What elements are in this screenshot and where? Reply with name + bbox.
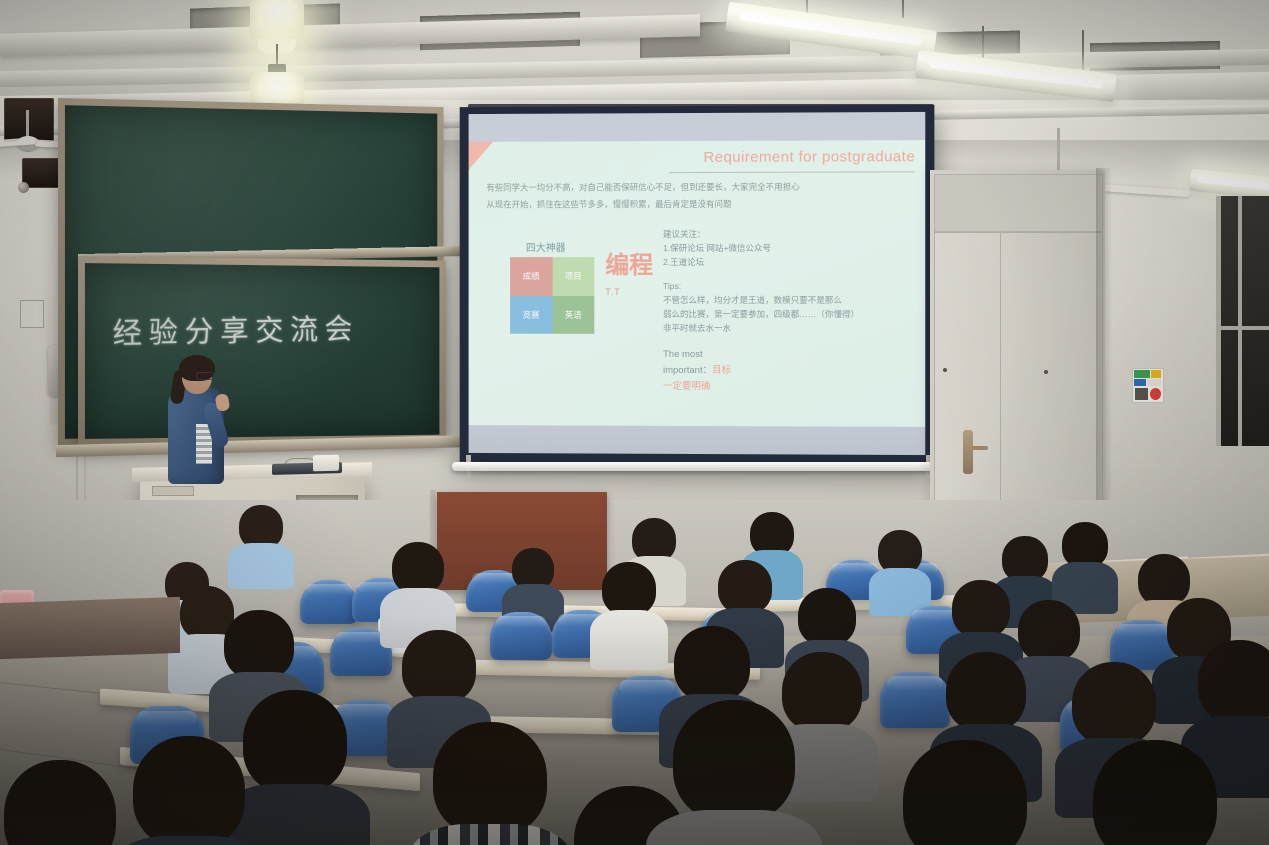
presenter-hand	[215, 393, 231, 412]
audience-member	[900, 740, 1030, 845]
wall-knob-icon	[18, 182, 29, 193]
four-quadrant-diagram: 成绩 项目 竞赛 英语	[510, 257, 594, 334]
slide-recommend-item: 1.保研论坛 网站+微信公众号	[663, 241, 914, 255]
quadrant-cell: 竞赛	[510, 295, 552, 333]
slide-recommend-item: 2.王道论坛	[663, 255, 914, 269]
ceiling-beam	[0, 14, 700, 56]
tube-stem	[1082, 30, 1084, 70]
person-torso	[590, 610, 668, 670]
audience-member	[670, 700, 798, 845]
podium-device-box[interactable]	[313, 455, 339, 472]
window-mullion	[1238, 196, 1242, 446]
slide-tips-line: 非平时就去水一水	[663, 321, 914, 335]
slide-important-prefix: important：	[663, 365, 712, 376]
audience-member	[0, 760, 120, 845]
slide-important-line: important：目标	[663, 363, 731, 379]
slide-tips-line: 弱么的比赛，第一定要参加，四级都……（你懂得）	[663, 307, 914, 321]
door-handle-icon[interactable]	[963, 430, 973, 474]
slide-most-important-block: The most important：目标 一定要明确	[663, 347, 731, 395]
blackboard-surface: 经验分享交流会	[85, 263, 439, 439]
person-head	[673, 700, 795, 822]
person-head	[903, 740, 1027, 845]
projection-screen: Requirement for postgraduate 有些同学大一均分不高，…	[460, 105, 935, 464]
slide-tips-line: 不管怎么样，均分才是王道，数模只要不是那么	[663, 293, 914, 307]
audience-member	[600, 562, 658, 658]
presenter	[160, 358, 240, 488]
slide-tips-heading: Tips:	[663, 279, 914, 293]
person-head	[133, 736, 245, 845]
person-head	[433, 722, 547, 836]
blackboard-lower: 经验分享交流会	[78, 256, 446, 446]
audience-member	[240, 690, 350, 845]
slide-big-word-sub: T.T	[605, 279, 653, 305]
person-torso	[646, 810, 822, 845]
slide-right-column: 建议关注： 1.保研论坛 网站+微信公众号 2.王道论坛 Tips: 不管怎么样…	[663, 227, 914, 346]
audience-member	[236, 505, 286, 583]
slide-intro-paragraph: 有些同学大一均分不高，对自己能否保研信心不足，但到还要长，大家完全不用担心 从现…	[486, 178, 885, 213]
person-torso	[228, 543, 294, 589]
audience-member	[130, 736, 248, 845]
person-head	[243, 690, 347, 794]
door-screw-icon	[1044, 370, 1048, 374]
pendant-lamp	[250, 0, 304, 34]
side-window	[1216, 196, 1269, 446]
person-head	[1093, 740, 1217, 845]
person-head	[1198, 640, 1269, 724]
person-head	[946, 652, 1026, 732]
person-head	[4, 760, 116, 845]
front-step-platform	[0, 597, 180, 659]
quadrant-cell: 英语	[552, 295, 594, 333]
person-head	[798, 588, 856, 646]
wall-outlet[interactable]	[20, 300, 44, 328]
auditorium-seat[interactable]	[490, 612, 552, 660]
slide-recommend-block: 建议关注： 1.保研论坛 网站+微信公众号 2.王道论坛	[663, 227, 914, 269]
glasses-icon	[196, 372, 214, 380]
person-head	[674, 626, 750, 702]
quadrant-cell: 成绩	[510, 257, 552, 295]
slide-section-label: 四大神器	[526, 239, 566, 254]
person-head	[224, 610, 294, 680]
presentation-slide: Requirement for postgraduate 有些同学大一均分不高，…	[469, 140, 926, 427]
audience-member	[390, 542, 446, 634]
audience-member	[1090, 740, 1220, 845]
slide-most-line: The most	[663, 347, 731, 363]
slide-tips-block: Tips: 不管怎么样，均分才是王道，数模只要不是那么 弱么的比赛，第一定要参加…	[663, 279, 914, 335]
slide-title-underline	[669, 171, 915, 173]
slide-big-word: 编程 T.T	[605, 253, 653, 305]
lamp-bulb-icon	[250, 0, 304, 44]
wall-notice-sticker	[1132, 368, 1164, 403]
tube-stem	[902, 0, 904, 18]
audience-member	[876, 530, 924, 608]
person-head	[1072, 662, 1156, 746]
chalk-writing: 经验分享交流会	[112, 304, 423, 353]
person-head	[392, 542, 444, 594]
auditorium-seat[interactable]	[880, 672, 950, 728]
classroom-photo-scene: 经验分享交流会 Requirement for postgraduate 有些同…	[0, 0, 1269, 845]
audience-member	[430, 722, 550, 845]
door-screw-icon	[943, 368, 947, 372]
person-head	[602, 562, 656, 616]
person-head	[952, 580, 1010, 638]
person-torso	[109, 836, 269, 845]
slide-recommend-heading: 建议关注：	[663, 227, 914, 241]
slide-most-line-cn: 一定要明确	[663, 379, 731, 395]
screen-surface: Requirement for postgraduate 有些同学大一均分不高，…	[469, 112, 926, 455]
person-head	[402, 630, 476, 704]
slide-title: Requirement for postgraduate	[703, 148, 915, 166]
audience-member	[1060, 522, 1110, 604]
person-torso	[408, 824, 572, 845]
auditorium-seat[interactable]	[300, 580, 358, 624]
slide-important-highlight: 目标	[712, 365, 731, 376]
screen-weight-bar	[452, 462, 939, 471]
person-head	[718, 560, 772, 614]
quadrant-cell: 项目	[552, 257, 594, 295]
slide-paragraph-line: 有些同学大一均分不高，对自己能否保研信心不足，但到还要长，大家完全不用担心	[486, 178, 885, 196]
slide-paragraph-line: 从现在开始，抓住在这些节多多，慢慢积累，最后肯定是没有问题	[486, 196, 885, 214]
slide-big-word-text: 编程	[605, 252, 653, 279]
door-transom	[934, 174, 1103, 232]
